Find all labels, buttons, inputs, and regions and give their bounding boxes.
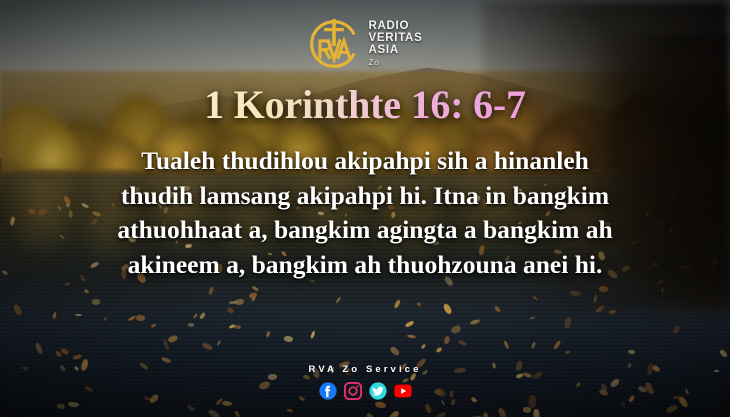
rva-monogram-icon (308, 18, 360, 70)
logo-line-asia: ASIA (369, 45, 423, 57)
verse-line: Tualeh thudihlou akipahpi sih a hinanleh (40, 144, 690, 179)
logo-line-language: Zo (369, 58, 423, 67)
instagram-icon[interactable] (344, 382, 362, 400)
card-content: RADIO VERITAS ASIA Zo 1 Korinthte 16: 6-… (0, 0, 730, 417)
verse-body-text: Tualeh thudihlou akipahpi sih a hinanleh… (40, 144, 690, 283)
youtube-icon[interactable] (394, 382, 412, 400)
rva-logo-text: RADIO VERITAS ASIA Zo (369, 21, 423, 67)
rva-logo-lockup[interactable]: RADIO VERITAS ASIA Zo (308, 18, 423, 70)
verse-reference-title: 1 Korinthte 16: 6-7 (204, 84, 526, 126)
logo-line-veritas: VERITAS (369, 33, 423, 45)
verse-line: akineem a, bangkim ah thuohzouna anei hi… (40, 248, 690, 283)
service-label: RVA Zo Service (309, 364, 422, 375)
verse-line: thudih lamsang akipahpi hi. Itna in bang… (40, 179, 690, 214)
social-links (319, 382, 412, 400)
scripture-card: RADIO VERITAS ASIA Zo 1 Korinthte 16: 6-… (0, 0, 730, 417)
card-footer: RVA Zo Service (0, 364, 730, 400)
verse-line: athuohhaat a, bangkim agingta a bangkim … (40, 213, 690, 248)
facebook-icon[interactable] (319, 382, 337, 400)
twitter-bird-icon[interactable] (369, 382, 387, 400)
